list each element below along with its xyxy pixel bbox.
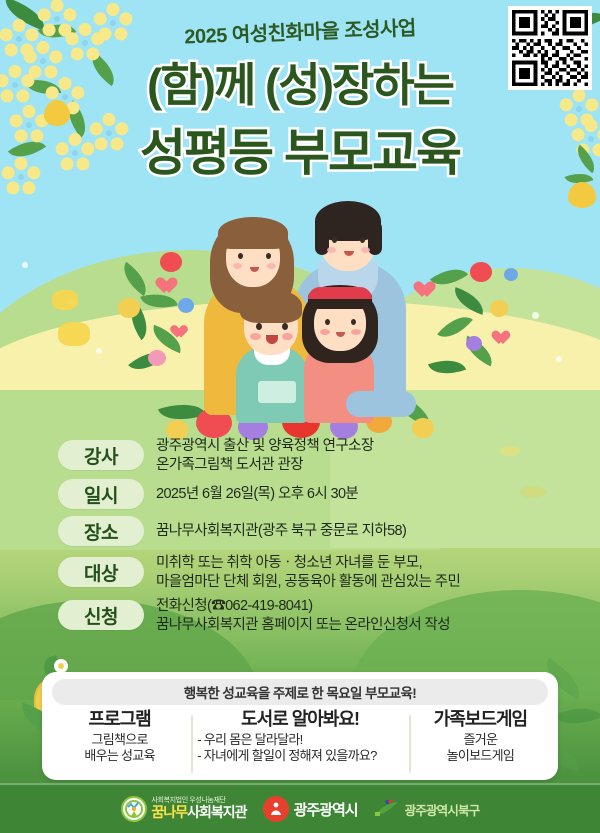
gwangju-city-name: 광주광역시 (294, 799, 358, 820)
logo-bukgu: 광주광역시북구 (374, 796, 480, 822)
info-label-audience: 대상 (58, 557, 144, 587)
title-line-1: (함)께 (성)장하는 (0, 62, 600, 108)
instructor-line-1: 광주광역시 출산 및 양육정책 연구소장 (156, 437, 374, 456)
footer-logo-bar: 사회복지법인 우성나눔재단 꿈나무사회복지관 광주광역시 (0, 785, 600, 833)
info-value-location: 꿈나무사회복지관(광주 북구 중문로 지하58) (156, 516, 406, 541)
info-list: 강사 광주광역시 출산 및 양육정책 연구소장 온가족그림책 도서관 관장 일시… (58, 436, 558, 639)
dream-tree-name-accent: 꿈나무 (152, 804, 188, 820)
info-value-datetime: 2025년 6월 26일(목) 오후 6시 30분 (156, 479, 358, 504)
boardgame-line-2: 놀이보드게임 (413, 748, 548, 764)
info-label-instructor: 강사 (58, 440, 144, 470)
location-line-1: 꿈나무사회복지관(광주 북구 중문로 지하58) (156, 522, 406, 541)
dream-tree-name: 꿈나무사회복지관 (152, 805, 247, 820)
program-heading: 프로그램 (52, 709, 187, 730)
books-line-2: - 자녀에게 할일이 정해져 있을까요? (195, 748, 405, 764)
info-row-location: 장소 꿈나무사회복지관(광주 북구 중문로 지하58) (58, 516, 558, 546)
card-column-boardgame: 가족보드게임 즐거운 놀이보드게임 (409, 709, 552, 777)
books-line-1: - 우리 몸은 달라달라! (195, 732, 405, 748)
info-value-audience: 미취학 또는 취학 아동ㆍ청소년 자녀를 둔 부모, 마을엄마단 단체 회원, … (156, 553, 460, 591)
audience-line-1: 미취학 또는 취학 아동ㆍ청소년 자녀를 둔 부모, (156, 554, 460, 573)
card-columns: 프로그램 그림책으로 배우는 성교육 도서로 알아봐요! - 우리 몸은 달라달… (42, 705, 558, 777)
info-row-datetime: 일시 2025년 6월 26일(목) 오후 6시 30분 (58, 479, 558, 509)
books-heading: 도서로 알아봐요! (195, 709, 405, 730)
info-value-apply: 전화신청(☎062-419-8041) 꿈나무사회복지관 홈페이지 또는 온라인… (156, 596, 450, 634)
bukgu-name: 광주광역시북구 (405, 800, 480, 819)
info-label-apply: 신청 (58, 600, 144, 630)
instructor-line-2: 온가족그림책 도서관 관장 (156, 456, 374, 475)
info-label-location: 장소 (58, 516, 144, 546)
program-card: 행복한 성교육을 주제로 한 목요일 부모교육! 프로그램 그림책으로 배우는 … (42, 672, 558, 780)
card-column-books: 도서로 알아봐요! - 우리 몸은 달라달라! - 자녀에게 할일이 정해져 있… (191, 709, 409, 777)
poster-root: 2025 여성친화마을 조성사업 (함)께 (성)장하는 성평등 부모교육 (0, 0, 600, 833)
family-illustration (196, 195, 411, 420)
info-row-audience: 대상 미취학 또는 취학 아동ㆍ청소년 자녀를 둔 부모, 마을엄마단 단체 회… (58, 553, 558, 591)
info-label-datetime: 일시 (58, 479, 144, 509)
audience-line-2: 마을엄마단 단체 회원, 공동육아 활동에 관심있는 주민 (156, 573, 460, 592)
logo-gwangju: 광주광역시 (263, 796, 358, 822)
dream-tree-logo-icon (121, 796, 147, 822)
apply-line-1[interactable]: 전화신청(☎062-419-8041) (156, 597, 450, 616)
program-line-1: 그림책으로 (52, 732, 187, 748)
title-line-2: 성평등 부모교육 (0, 128, 600, 178)
boardgame-line-1: 즐거운 (413, 732, 548, 748)
logo-dream-tree: 사회복지법인 우성나눔재단 꿈나무사회복지관 (121, 796, 247, 822)
program-line-2: 배우는 성교육 (52, 748, 187, 764)
father-arm (346, 391, 416, 417)
boardgame-heading: 가족보드게임 (413, 709, 548, 730)
bukgu-logo-icon (374, 796, 400, 822)
datetime-line-1: 2025년 6월 26일(목) 오후 6시 30분 (156, 485, 358, 504)
card-column-program: 프로그램 그림책으로 배우는 성교육 (48, 709, 191, 777)
dream-tree-name-rest: 사회복지관 (187, 804, 246, 820)
info-row-apply: 신청 전화신청(☎062-419-8041) 꿈나무사회복지관 홈페이지 또는 … (58, 596, 558, 634)
info-value-instructor: 광주광역시 출산 및 양육정책 연구소장 온가족그림책 도서관 관장 (156, 436, 374, 474)
gwangju-city-logo-icon (263, 796, 289, 822)
card-banner: 행복한 성교육을 주제로 한 목요일 부모교육! (52, 679, 548, 705)
apply-line-2[interactable]: 꿈나무사회복지관 홈페이지 또는 온라인신청서 작성 (156, 616, 450, 635)
info-row-instructor: 강사 광주광역시 출산 및 양육정책 연구소장 온가족그림책 도서관 관장 (58, 436, 558, 474)
